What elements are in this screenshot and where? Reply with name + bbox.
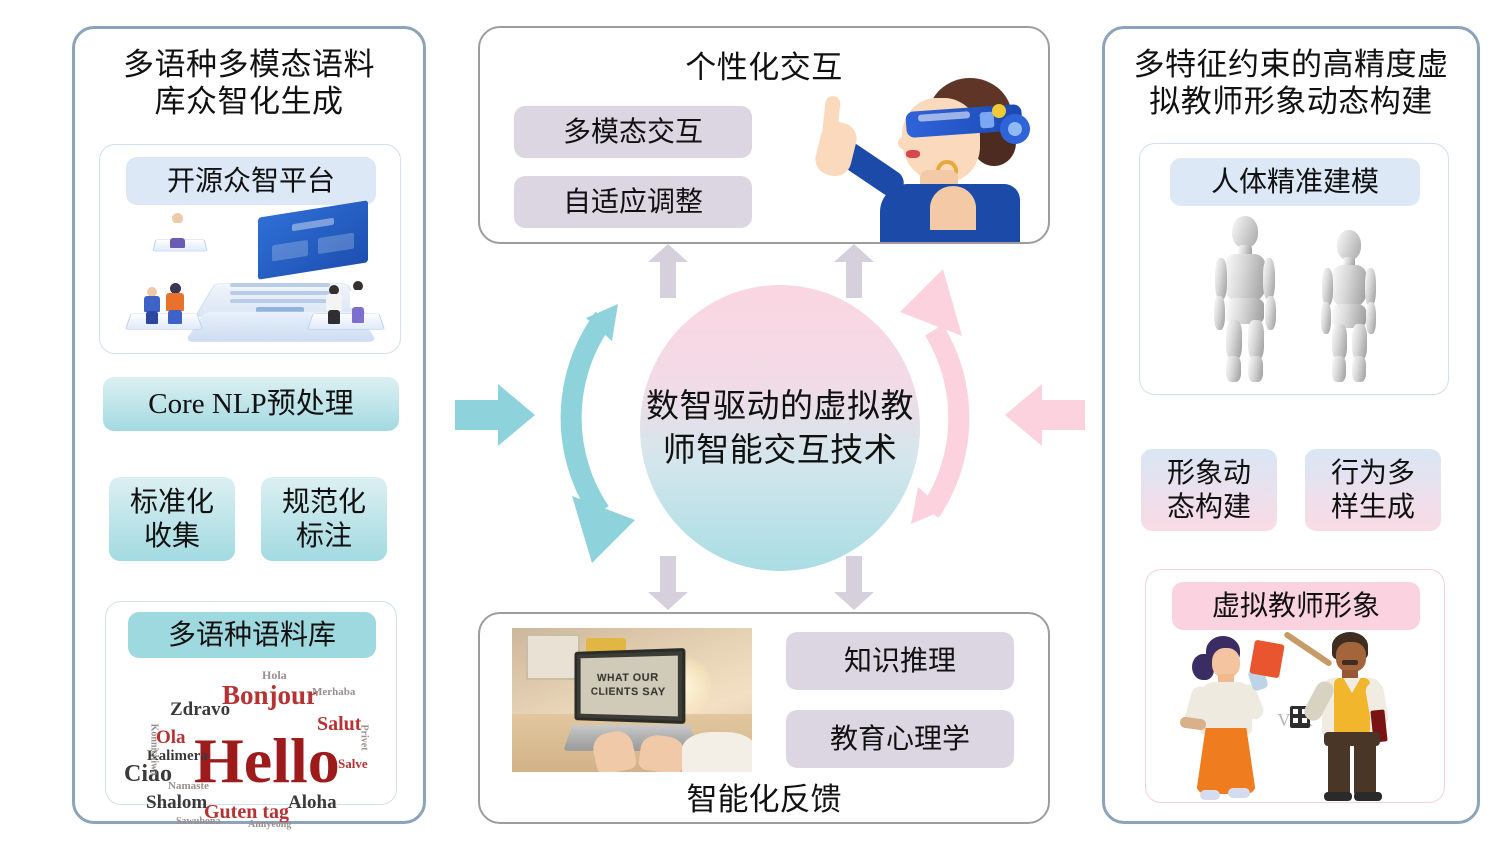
- chip-dynamic-image-construction[interactable]: 形象动 态构建: [1141, 449, 1277, 531]
- word-cloud-term: Konnichiwa: [148, 724, 159, 776]
- figure-right-b: [348, 281, 368, 325]
- word-cloud-term: Shalom: [146, 792, 207, 814]
- figure-right-a: [324, 285, 344, 325]
- virtual-teacher-avatars: VR: [1164, 632, 1430, 800]
- core-concept-text: 数智驱动的虚拟教 师智能交互技术: [646, 384, 914, 471]
- chip-adaptive-adjustment[interactable]: 自适应调整: [514, 176, 752, 228]
- chip-multilingual-corpus[interactable]: 多语种语料库: [128, 612, 376, 658]
- arrow-left-to-center: [455, 384, 535, 446]
- chip-standardized-collection[interactable]: 标准化 收集: [109, 477, 235, 561]
- virtual-teacher-card: 虚拟教师形象 VR: [1145, 569, 1445, 803]
- chip-normalized-annotation[interactable]: 规范化 标注: [261, 477, 387, 561]
- figure-left-a: [142, 287, 162, 325]
- laptop-screen-text: WHAT OUR CLIENTS SAY: [591, 672, 666, 701]
- figure-presenter: [166, 213, 188, 249]
- crowdsourcing-platform-card: 开源众智平台: [99, 144, 401, 354]
- diagram-canvas: 多语种多模态语料 库众智化生成 开源众智平台: [0, 0, 1508, 849]
- core-concept-circle: 数智驱动的虚拟教 师智能交互技术: [640, 285, 920, 571]
- word-cloud-term: Hola: [262, 668, 287, 683]
- word-cloud-term: Aloha: [288, 792, 337, 814]
- human-body-mannequin-models: [1190, 216, 1404, 386]
- multilingual-corpus-card: 多语种语料库 HelloBonjourSalutZdravoOlaKalimer…: [105, 601, 397, 805]
- cycle-arc-left: [571, 304, 635, 563]
- right-panel: 多特征约束的高精度虚 拟教师形象动态构建 人体精准建模: [1102, 26, 1480, 824]
- top-panel: 个性化交互 多模态交互 自适应调整: [478, 26, 1050, 244]
- mannequin-female: [1306, 230, 1392, 384]
- right-panel-title: 多特征约束的高精度虚 拟教师形象动态构建: [1105, 47, 1477, 120]
- mannequin-male: [1198, 216, 1290, 384]
- word-cloud-term: Namaste: [168, 780, 209, 792]
- avatar-female-teacher: [1180, 636, 1290, 800]
- chip-knowledge-reasoning[interactable]: 知识推理: [786, 632, 1014, 690]
- left-panel: 多语种多模态语料 库众智化生成 开源众智平台: [72, 26, 426, 824]
- word-cloud-term: Salut: [317, 713, 361, 736]
- figure-left-b: [164, 283, 186, 325]
- human-modeling-card: 人体精准建模: [1139, 143, 1449, 395]
- bottom-panel-caption: 智能化反馈: [480, 774, 1048, 819]
- avatar-male-teacher: [1306, 632, 1418, 800]
- word-cloud-term: Bonjour: [222, 680, 318, 711]
- chip-educational-psychology[interactable]: 教育心理学: [786, 710, 1014, 768]
- chip-virtual-teacher-image[interactable]: 虚拟教师形象: [1172, 582, 1420, 630]
- crowdsourcing-platform-illustration: [110, 205, 392, 351]
- word-cloud-term: Zdravo: [170, 699, 230, 721]
- chip-core-nlp-preprocess[interactable]: Core NLP预处理: [103, 377, 399, 431]
- left-panel-title: 多语种多模态语料 库众智化生成: [75, 47, 423, 120]
- arrow-right-to-center: [1005, 384, 1085, 446]
- word-cloud-term: Merhaba: [312, 686, 355, 698]
- word-cloud-term: Sawubona: [176, 816, 220, 827]
- chip-diverse-behavior-generation[interactable]: 行为多 样生成: [1305, 449, 1441, 531]
- word-cloud-term: Salve: [338, 756, 368, 772]
- chip-human-body-modeling[interactable]: 人体精准建模: [1170, 158, 1420, 206]
- chip-multimodal-interaction[interactable]: 多模态交互: [514, 106, 752, 158]
- laptop-client-feedback-photo: WHAT OUR CLIENTS SAY: [512, 628, 752, 772]
- bottom-panel: WHAT OUR CLIENTS SAY 知识推理 教育心理学 智能化反馈: [478, 612, 1050, 824]
- multilingual-hello-word-cloud: HelloBonjourSalutZdravoOlaKalimeraCiaoSh…: [116, 656, 388, 802]
- word-cloud-term: Annyeong: [248, 819, 291, 830]
- chip-open-source-platform[interactable]: 开源众智平台: [126, 157, 376, 205]
- vr-headset-woman-illustration: [810, 74, 1040, 242]
- word-cloud-term: Ola: [156, 727, 186, 749]
- word-cloud-term: Privet: [359, 724, 370, 750]
